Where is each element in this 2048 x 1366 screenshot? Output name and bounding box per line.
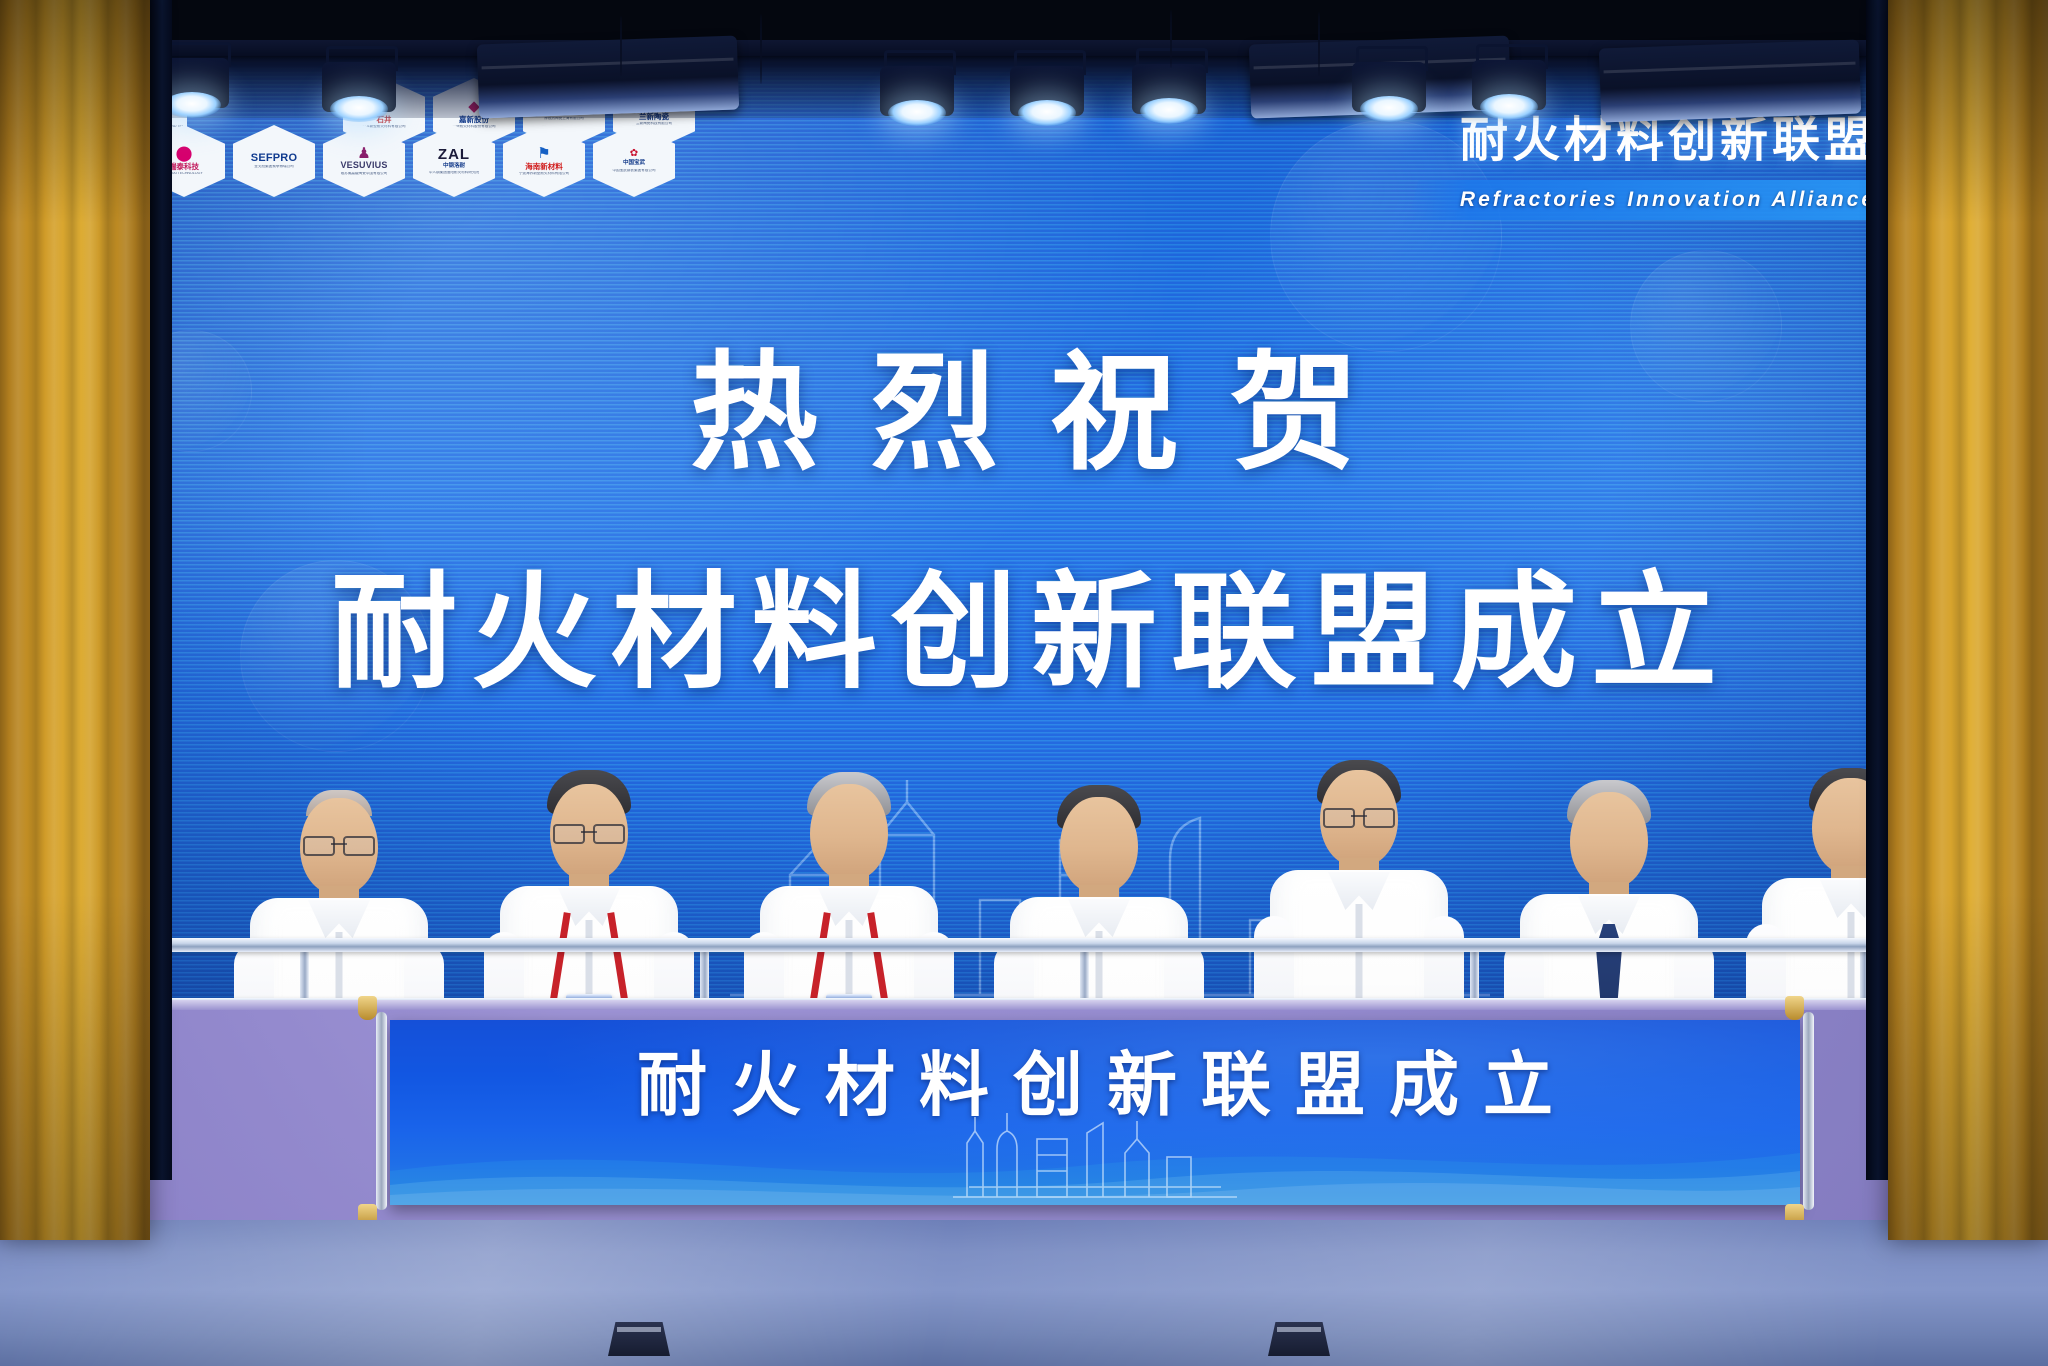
sponsor-hex: ✿ 中国宝武 中国宝武钢铁集团有限公司 xyxy=(593,125,675,197)
stage-monitor-speaker xyxy=(1268,1322,1330,1356)
sponsor-glyph: ✿ xyxy=(630,149,638,159)
sponsor-mark: VESUVIUS xyxy=(340,161,387,170)
pole-finial xyxy=(358,996,377,1020)
glasses-icon xyxy=(553,824,625,840)
head xyxy=(810,784,888,880)
ceiling-shadow xyxy=(0,0,2048,40)
sponsor-hex: ⚑ 海南新材料 宁波海界新型耐火材料有限公司 xyxy=(503,125,585,197)
par-can-light xyxy=(1352,62,1426,130)
sponsor-name-sub: 宁波海界新型耐火材料有限公司 xyxy=(519,172,569,176)
sponsor-glyph: ♟ xyxy=(357,146,370,161)
apron-lip xyxy=(0,1000,2048,1010)
wall-gap-left xyxy=(150,0,172,1180)
alliance-name-bar: Refractories Innovation Alliance xyxy=(1408,180,1928,220)
sponsor-glyph: ⚑ xyxy=(537,146,550,161)
event-banner: 耐火材料创新联盟成立 xyxy=(390,1020,1800,1205)
par-can-light xyxy=(1132,64,1206,132)
sponsor-hex: SEFPRO 圣戈班集团索菲博瑞公司 xyxy=(233,125,315,197)
pole-finial xyxy=(1785,996,1804,1020)
banner-pole-left xyxy=(376,1012,387,1210)
sponsor-row-two: ⬤ 瑞泰科技 RUITAI TECHNOLOGY SEFPRO 圣戈班集团索菲博… xyxy=(143,125,675,197)
sponsor-glyph: ⬤ xyxy=(176,146,193,161)
headline-congratulations: 热烈祝贺 xyxy=(0,350,2048,478)
head xyxy=(1320,770,1398,866)
sponsor-name-cn: 中国宝武 xyxy=(623,161,645,167)
sponsor-name-cn: 瑞泰科技 xyxy=(169,163,199,171)
hanging-cable xyxy=(1318,12,1320,76)
hanging-cable xyxy=(760,14,762,84)
floor-reflection xyxy=(0,1220,2048,1366)
stage-monitor-speaker xyxy=(608,1322,670,1356)
hanging-cable xyxy=(620,16,622,76)
head xyxy=(550,784,628,880)
banner-pole-right xyxy=(1803,1012,1814,1210)
head xyxy=(300,798,378,894)
head xyxy=(1570,792,1648,888)
sponsor-hex: ♟ VESUVIUS 维苏威高级陶瓷中国有限公司 xyxy=(323,125,405,197)
par-can-light xyxy=(1472,60,1546,128)
sponsor-name-sub: 圣戈班集团索菲博瑞公司 xyxy=(254,165,294,169)
par-can-light xyxy=(1010,66,1084,134)
glasses-icon xyxy=(1323,808,1395,824)
sponsor-mark: ZAL xyxy=(438,147,470,162)
head xyxy=(1060,797,1138,893)
sponsor-name-sub: 维苏威高级陶瓷中国有限公司 xyxy=(341,172,388,176)
alliance-name-en: Refractories Innovation Alliance xyxy=(1460,188,1876,212)
par-can-light xyxy=(322,62,396,130)
wall-gap-right xyxy=(1866,0,1888,1180)
led-flood-light xyxy=(477,35,739,118)
sponsor-name-cn: 中钢洛耐 xyxy=(443,164,465,170)
sponsor-name-sub: 中国宝武钢铁集团有限公司 xyxy=(612,169,655,173)
glasses-icon xyxy=(303,836,375,852)
sponsor-name-cn: 海南新材料 xyxy=(525,163,563,171)
sponsor-name-sub: 中人钢集团洛阳耐火材料研究院 xyxy=(429,171,479,175)
stage-floor xyxy=(0,1220,2048,1366)
par-can-light xyxy=(880,66,954,134)
hanging-cable xyxy=(1170,10,1172,68)
banner-skyline-lineart xyxy=(945,1109,1245,1199)
stage-curtain-right xyxy=(1888,0,2048,1240)
led-flood-light xyxy=(1599,39,1861,122)
sponsor-hex: ZAL 中钢洛耐 中人钢集团洛阳耐火材料研究院 xyxy=(413,125,495,197)
stage-curtain-left xyxy=(0,0,150,1240)
headline-alliance-founded: 耐火材料创新联盟成立 xyxy=(0,570,2048,696)
stage-photo: ◈ 武汉科技大学 WUHAN UNIVERSITY OF SCIENCE AND… xyxy=(0,0,2048,1366)
sponsor-mark: SEFPRO xyxy=(251,153,297,164)
